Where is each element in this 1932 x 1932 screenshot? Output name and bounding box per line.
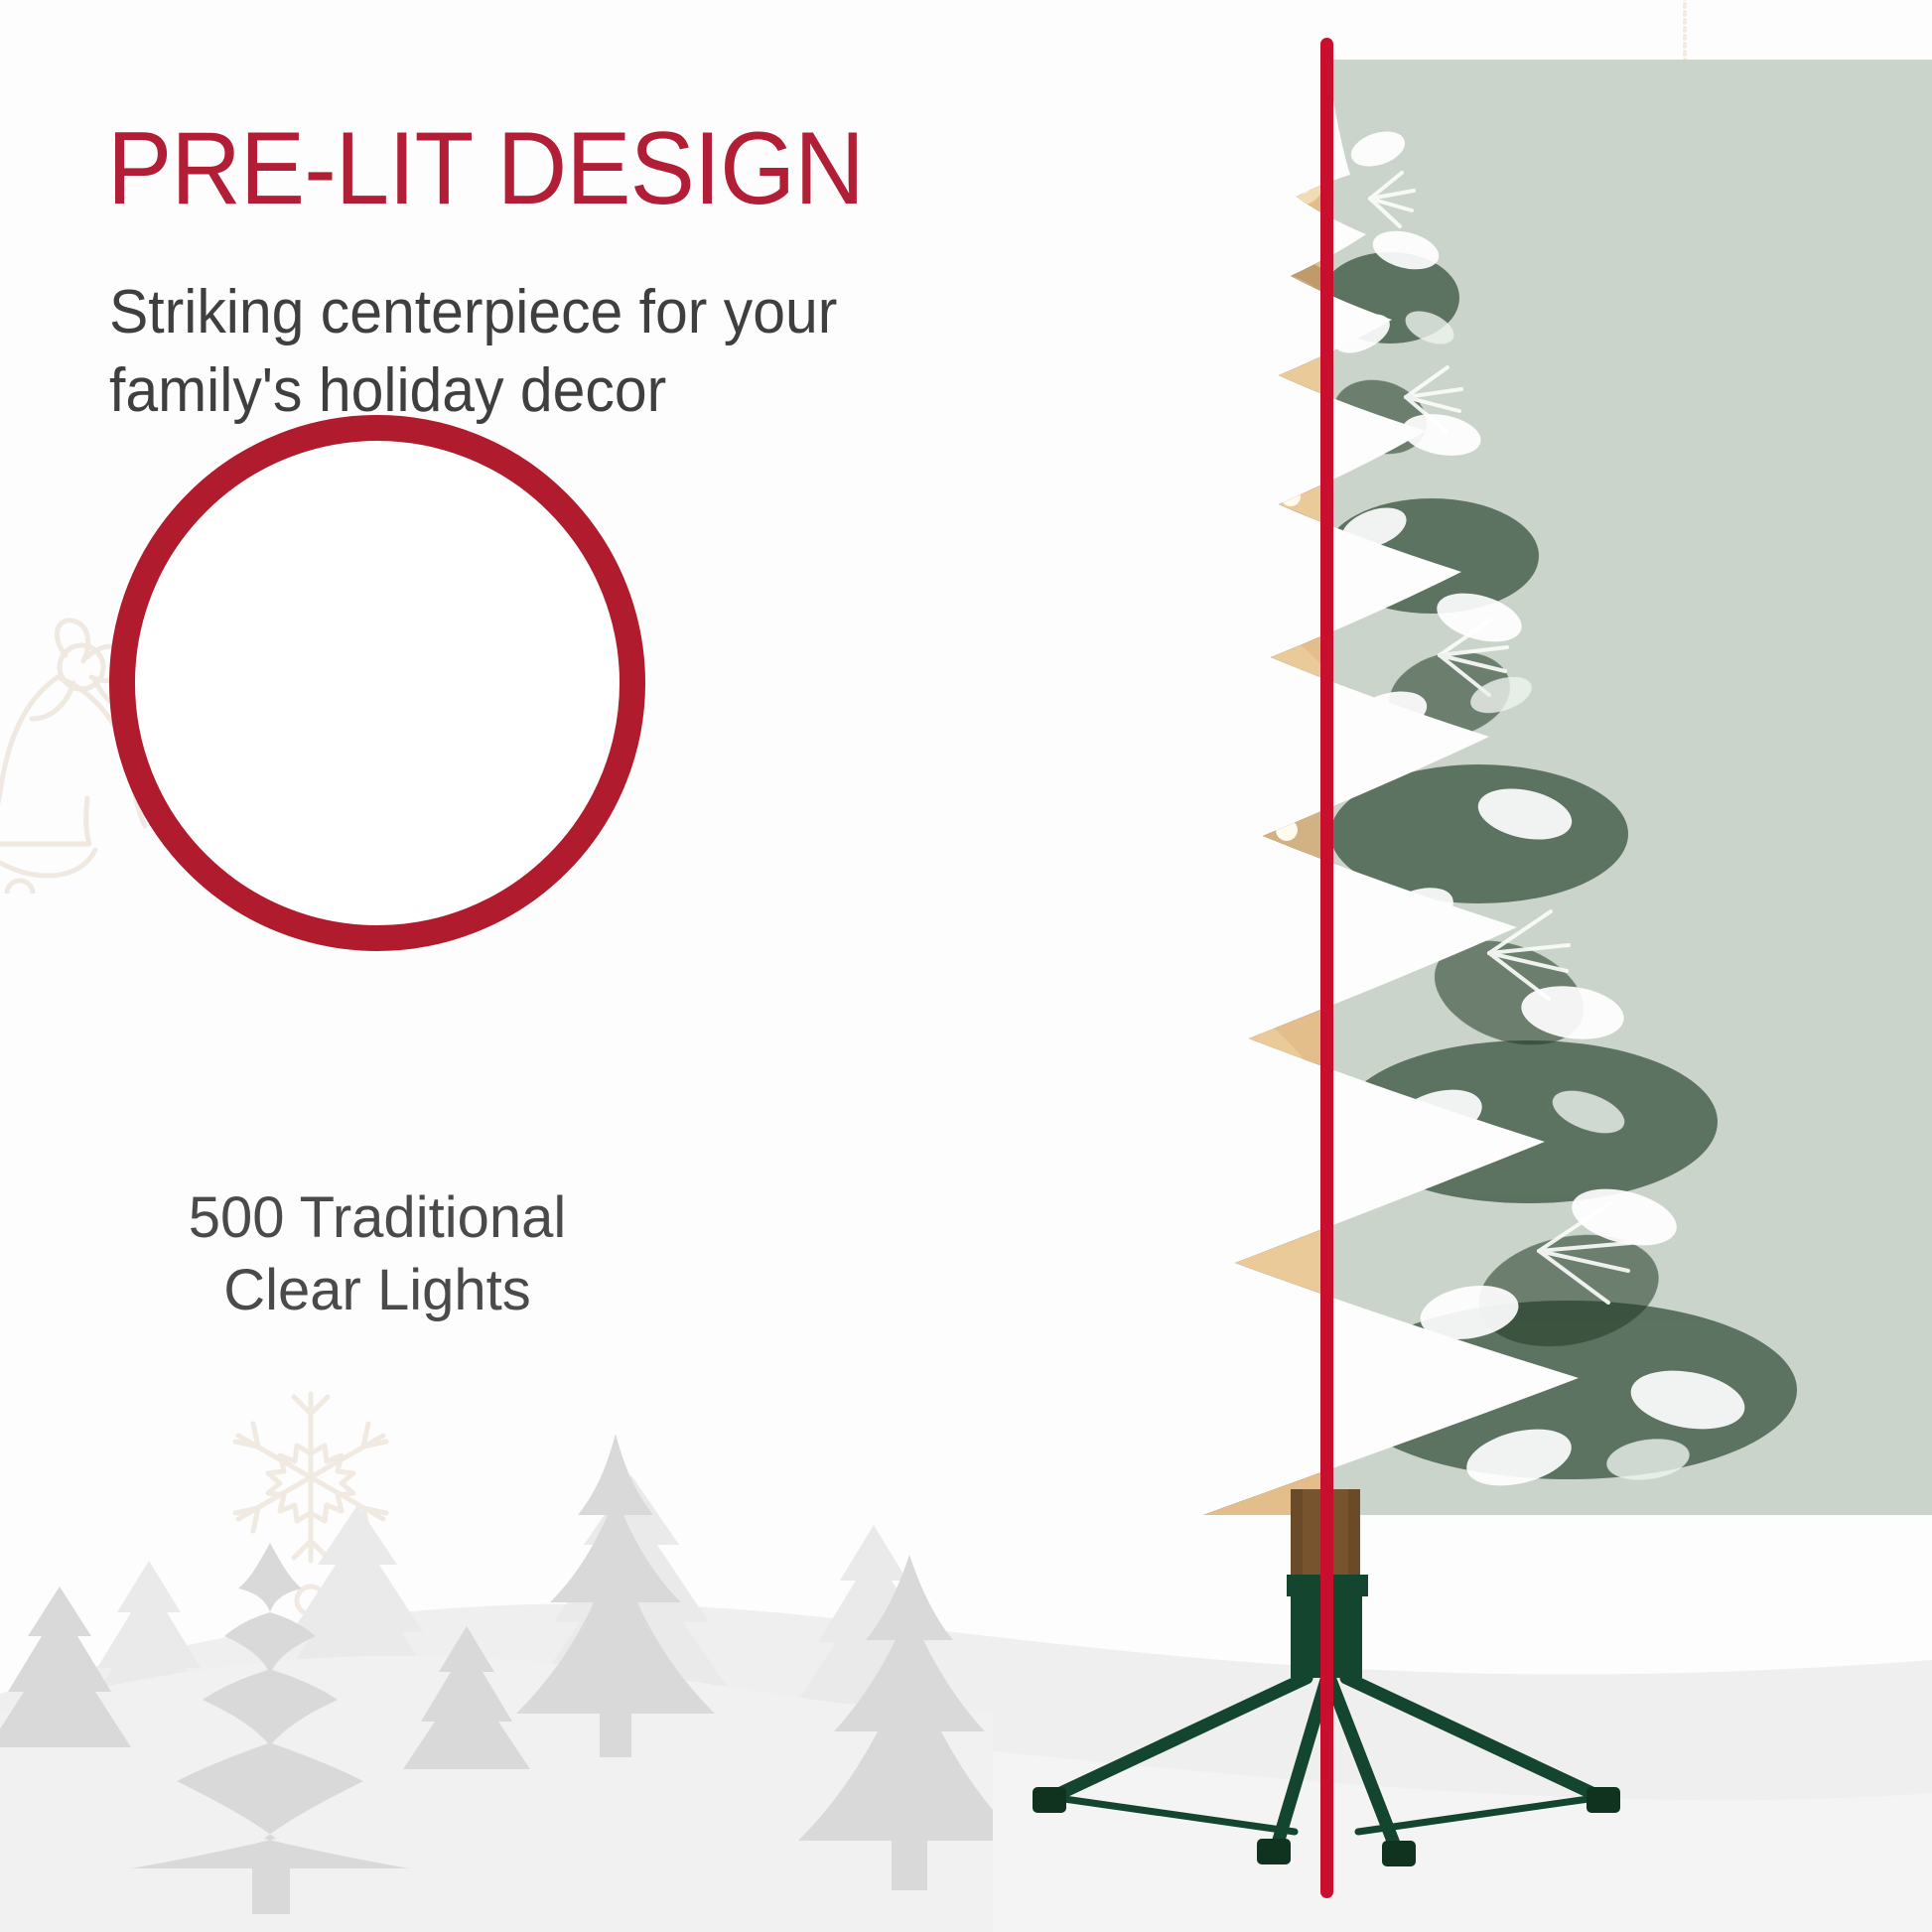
- detail-inset: [109, 415, 645, 951]
- inset-ring-border: [109, 415, 645, 951]
- inset-caption-line-1: 500 Traditional: [109, 1181, 645, 1254]
- product-feature-banner: PRE-LIT DESIGN Striking centerpiece for …: [0, 0, 1932, 1932]
- inset-caption: 500 Traditional Clear Lights: [109, 1181, 645, 1326]
- pine-forest-silhouette: [0, 1376, 993, 1932]
- split-divider-line: [1320, 38, 1333, 1898]
- inset-caption-line-2: Clear Lights: [109, 1254, 645, 1326]
